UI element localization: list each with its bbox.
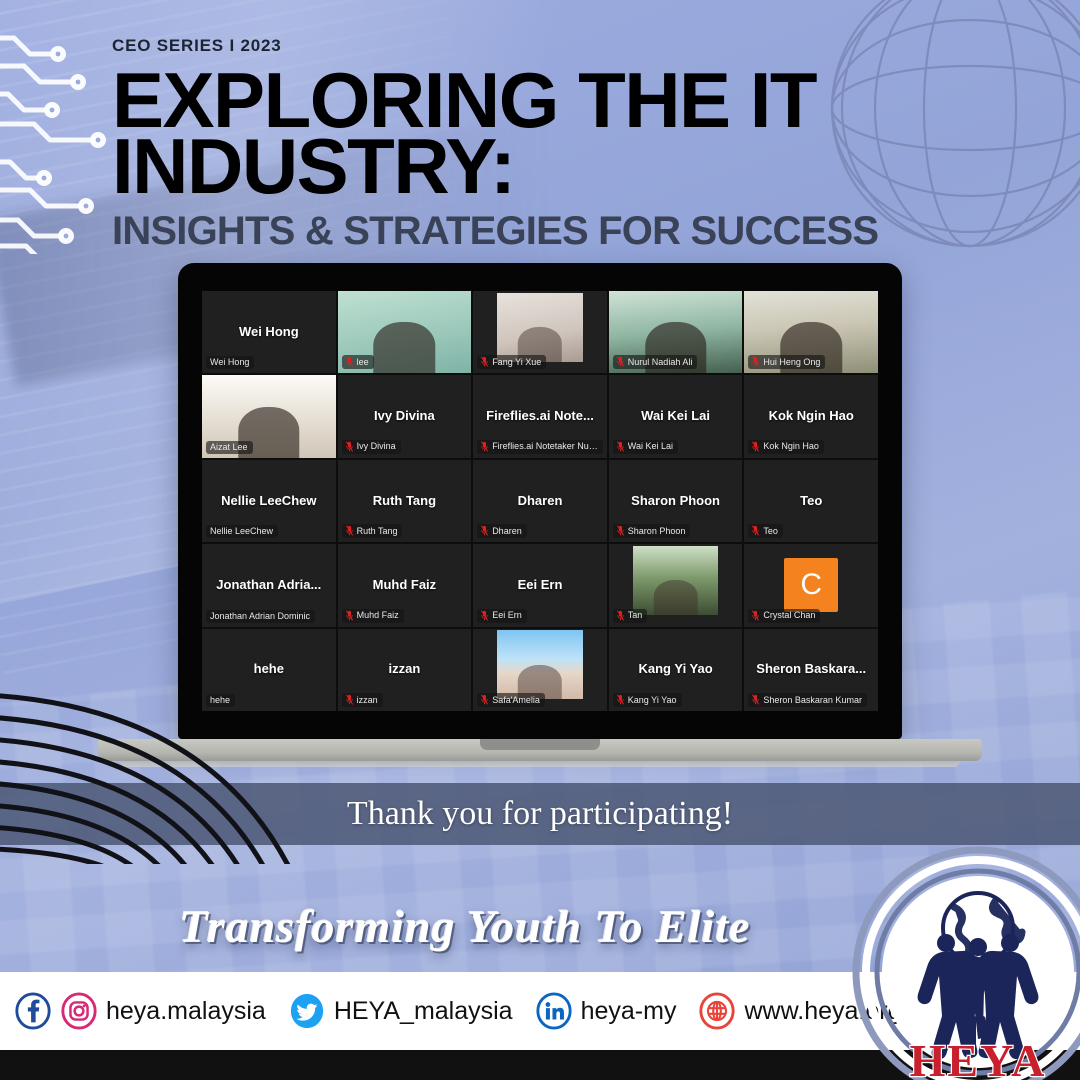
instagram-icon[interactable] — [60, 992, 98, 1030]
twitter-icon[interactable] — [288, 992, 326, 1030]
participant-name-label: Ivy Divina — [342, 440, 401, 454]
participant-label-text: Hui Heng Ong — [763, 357, 820, 367]
facebook-icon[interactable] — [14, 992, 52, 1030]
participant-label-text: lee — [357, 357, 369, 367]
page-title: EXPLORING THE IT INDUSTRY: — [112, 70, 932, 197]
participant-name-label: Tan — [613, 609, 648, 623]
participant-display-name: Wai Kei Lai — [635, 409, 716, 424]
participant-tile[interactable]: Sharon PhoonSharon Phoon — [609, 460, 743, 542]
participant-label-text: Crystal Chan — [763, 610, 815, 620]
participant-label-text: Ivy Divina — [357, 441, 396, 451]
globe-icon[interactable] — [698, 992, 736, 1030]
participant-name-label: Wai Kei Lai — [613, 440, 678, 454]
participant-tile[interactable]: Wai Kei LaiWai Kei Lai — [609, 375, 743, 457]
mic-muted-icon — [617, 694, 624, 705]
participant-label-text: Kang Yi Yao — [628, 695, 677, 705]
zoom-participant-grid: Wei HongWei HongleeFang Yi XueNurul Nadi… — [202, 291, 878, 711]
participant-name-label: Safa'Amelia — [477, 693, 545, 707]
participant-video — [497, 293, 583, 362]
participant-tile[interactable]: CCrystal Chan — [744, 544, 878, 626]
participant-display-name: izzan — [382, 662, 426, 677]
participant-tile[interactable]: Fang Yi Xue — [473, 291, 607, 373]
participant-name-label: Sheron Baskaran Kumar — [748, 693, 867, 707]
participant-label-text: Wei Hong — [210, 357, 249, 367]
participant-name-label: Ruth Tang — [342, 524, 403, 538]
heya-logo: HEYA — [846, 844, 1080, 1080]
participant-tile[interactable]: Ivy DivinaIvy Divina — [338, 375, 472, 457]
participant-tile[interactable]: Fireflies.ai Note...Fireflies.ai Notetak… — [473, 375, 607, 457]
participant-label-text: Aizat Lee — [210, 442, 248, 452]
participant-label-text: Sharon Phoon — [628, 526, 686, 536]
participant-tile[interactable]: Wei HongWei Hong — [202, 291, 336, 373]
mic-muted-icon — [481, 525, 488, 536]
participant-name-label: Jonathan Adrian Dominic — [206, 610, 315, 623]
participant-name-label: Nellie LeeChew — [206, 525, 278, 538]
participant-label-text: Muhd Faiz — [357, 610, 399, 620]
social-link-heya-my[interactable]: heya-my — [535, 992, 677, 1030]
participant-display-name: Muhd Faiz — [367, 578, 443, 593]
participant-tile[interactable]: Safa'Amelia — [473, 629, 607, 711]
participant-display-name: Sheron Baskara... — [750, 662, 872, 677]
participant-label-text: Nurul Nadiah Ali — [628, 357, 693, 367]
laptop-notch — [480, 739, 600, 750]
participant-label-text: Eei Ern — [492, 610, 522, 620]
laptop-mockup: Wei HongWei HongleeFang Yi XueNurul Nadi… — [178, 263, 902, 739]
participant-tile[interactable]: Kok Ngin HaoKok Ngin Hao — [744, 375, 878, 457]
mic-muted-icon — [752, 610, 759, 621]
participant-label-text: Safa'Amelia — [492, 695, 540, 705]
social-handle-text: heya.malaysia — [106, 997, 266, 1026]
participant-name-label: Muhd Faiz — [342, 609, 404, 623]
participant-name-label: Sharon Phoon — [613, 524, 691, 538]
mic-muted-icon — [752, 441, 759, 452]
participant-label-text: Wai Kei Lai — [628, 441, 673, 451]
participant-display-name: Ruth Tang — [367, 494, 442, 509]
mic-muted-icon — [346, 356, 353, 367]
participant-tile[interactable]: Kang Yi YaoKang Yi Yao — [609, 629, 743, 711]
participant-display-name: Nellie LeeChew — [215, 494, 322, 509]
mic-muted-icon — [481, 356, 488, 367]
participant-display-name: Jonathan Adria... — [210, 578, 327, 593]
social-handle-text: heya-my — [581, 997, 677, 1026]
mic-muted-icon — [346, 525, 353, 536]
participant-display-name: Fireflies.ai Note... — [480, 409, 600, 424]
participant-label-text: Ruth Tang — [357, 526, 398, 536]
linkedin-icon[interactable] — [535, 992, 573, 1030]
participant-label-text: Tan — [628, 610, 643, 620]
participant-name-label: Crystal Chan — [748, 609, 820, 623]
social-link-heya-malaysia[interactable]: HEYA_malaysia — [288, 992, 513, 1030]
participant-label-text: Fireflies.ai Notetaker Nurul N — [492, 441, 598, 451]
participant-name-label: Nurul Nadiah Ali — [613, 355, 698, 369]
participant-tile[interactable]: Aizat Lee — [202, 375, 336, 457]
participant-tile[interactable]: DharenDharen — [473, 460, 607, 542]
title-line-2: INDUSTRY: — [112, 136, 932, 198]
participant-name-label: Eei Ern — [477, 609, 527, 623]
mic-muted-icon — [617, 441, 624, 452]
decorative-arcs-left-icon — [0, 684, 430, 864]
mic-muted-icon — [752, 694, 759, 705]
mic-muted-icon — [617, 610, 624, 621]
participant-name-label: Kang Yi Yao — [613, 693, 682, 707]
participant-tile[interactable]: Nellie LeeChewNellie LeeChew — [202, 460, 336, 542]
mic-muted-icon — [752, 525, 759, 536]
participant-tile[interactable]: Tan — [609, 544, 743, 626]
participant-label-text: Fang Yi Xue — [492, 357, 541, 367]
mic-muted-icon — [481, 694, 488, 705]
participant-name-label: Hui Heng Ong — [748, 355, 825, 369]
participant-name-label: Fireflies.ai Notetaker Nurul N — [477, 440, 603, 454]
participant-label-text: Jonathan Adrian Dominic — [210, 611, 310, 621]
laptop-screen: Wei HongWei HongleeFang Yi XueNurul Nadi… — [178, 263, 902, 739]
mic-muted-icon — [481, 610, 488, 621]
participant-display-name: Sharon Phoon — [625, 494, 726, 509]
social-link-heya-malaysia[interactable]: heya.malaysia — [14, 992, 266, 1030]
participant-display-name: Eei Ern — [512, 578, 569, 593]
participant-display-name: Wei Hong — [233, 325, 305, 340]
participant-display-name: Kok Ngin Hao — [763, 409, 860, 424]
participant-tile[interactable]: lee — [338, 291, 472, 373]
participant-tile[interactable]: Eei ErnEei Ern — [473, 544, 607, 626]
poster-header: CEO SERIES I 2023 EXPLORING THE IT INDUS… — [112, 36, 932, 254]
participant-name-label: Fang Yi Xue — [477, 355, 546, 369]
participant-name-label: Dharen — [477, 524, 527, 538]
mic-muted-icon — [617, 356, 624, 367]
participant-video — [633, 546, 719, 615]
participant-name-label: Wei Hong — [206, 356, 254, 369]
participant-display-name: Dharen — [512, 494, 569, 509]
mic-muted-icon — [752, 356, 759, 367]
series-kicker: CEO SERIES I 2023 — [112, 36, 932, 56]
participant-tile[interactable]: Ruth TangRuth Tang — [338, 460, 472, 542]
participant-display-name: Teo — [794, 494, 828, 509]
social-handle-text: HEYA_malaysia — [334, 997, 513, 1026]
heya-wordmark: HEYA — [910, 1035, 1047, 1080]
participant-tile[interactable]: Nurul Nadiah Ali — [609, 291, 743, 373]
participant-avatar: C — [784, 558, 838, 612]
mic-muted-icon — [346, 610, 353, 621]
participant-label-text: Dharen — [492, 526, 522, 536]
participant-label-text: Kok Ngin Hao — [763, 441, 819, 451]
participant-tile[interactable]: Muhd FaizMuhd Faiz — [338, 544, 472, 626]
participant-label-text: Nellie LeeChew — [210, 526, 273, 536]
participant-display-name: hehe — [248, 662, 290, 677]
mic-muted-icon — [481, 441, 488, 452]
participant-label-text: Teo — [763, 526, 778, 536]
participant-name-label: Aizat Lee — [206, 441, 253, 454]
participant-display-name: Ivy Divina — [368, 409, 441, 424]
participant-display-name: Kang Yi Yao — [633, 662, 719, 677]
participant-name-label: lee — [342, 355, 374, 369]
participant-tile[interactable]: Jonathan Adria...Jonathan Adrian Dominic — [202, 544, 336, 626]
participant-video — [497, 630, 583, 699]
page-subtitle: INSIGHTS & STRATEGIES FOR SUCCESS — [112, 209, 932, 254]
participant-label-text: Sheron Baskaran Kumar — [763, 695, 862, 705]
participant-tile[interactable]: TeoTeo — [744, 460, 878, 542]
participant-name-label: Teo — [748, 524, 783, 538]
participant-name-label: Kok Ngin Hao — [748, 440, 824, 454]
participant-tile[interactable]: Hui Heng Ong — [744, 291, 878, 373]
mic-muted-icon — [617, 525, 624, 536]
participant-tile[interactable]: Sheron Baskara...Sheron Baskaran Kumar — [744, 629, 878, 711]
mic-muted-icon — [346, 441, 353, 452]
